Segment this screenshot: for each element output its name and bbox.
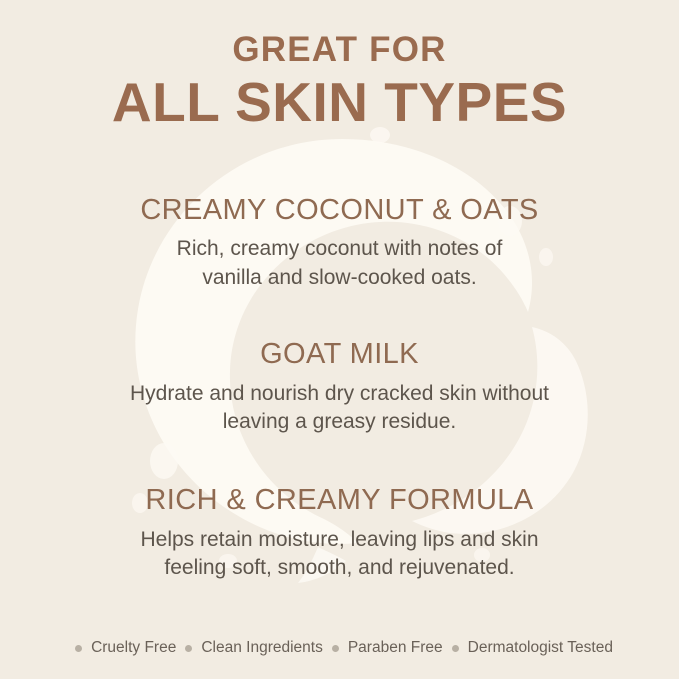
badge-clean-ingredients: Clean Ingredients [176,639,323,657]
section-title: RICH & CREAMY FORMULA [24,484,655,517]
badge-cruelty-free: Cruelty Free [66,639,176,657]
section-body-line-2: leaving a greasy residue. [80,408,600,436]
section-goat-milk: GOAT MILK Hydrate and nourish dry cracke… [24,338,655,436]
section-body-line-1: Rich, creamy coconut with notes of [80,235,600,263]
badge-label: Paraben Free [348,639,443,657]
section-body-line-1: Hydrate and nourish dry cracked skin wit… [80,380,600,408]
bullet-dot-icon [185,645,192,652]
content-column: GREAT FOR ALL SKIN TYPES CREAMY COCONUT … [0,0,679,679]
badge-label: Cruelty Free [91,639,176,657]
section-body: Rich, creamy coconut with notes of vanil… [80,235,600,292]
section-body-line-1: Helps retain moisture, leaving lips and … [80,526,600,554]
badge-label: Dermatologist Tested [468,639,613,657]
claims-badge-row: Cruelty Free Clean Ingredients Paraben F… [0,639,679,657]
page-title-line-2: ALL SKIN TYPES [24,73,655,132]
section-body-line-2: feeling soft, smooth, and rejuvenated. [80,554,600,582]
section-creamy-coconut-oats: CREAMY COCONUT & OATS Rich, creamy cocon… [24,194,655,292]
badge-label: Clean Ingredients [201,639,323,657]
badge-dermatologist-tested: Dermatologist Tested [443,639,613,657]
section-title: GOAT MILK [24,338,655,371]
section-body-line-2: vanilla and slow-cooked oats. [80,264,600,292]
bullet-dot-icon [332,645,339,652]
product-info-graphic: GREAT FOR ALL SKIN TYPES CREAMY COCONUT … [0,0,679,679]
badge-paraben-free: Paraben Free [323,639,443,657]
section-rich-creamy-formula: RICH & CREAMY FORMULA Helps retain moist… [24,484,655,582]
section-body: Hydrate and nourish dry cracked skin wit… [80,380,600,437]
page-title-line-1: GREAT FOR [24,32,655,69]
bullet-dot-icon [452,645,459,652]
section-body: Helps retain moisture, leaving lips and … [80,526,600,583]
bullet-dot-icon [75,645,82,652]
section-title: CREAMY COCONUT & OATS [24,194,655,227]
